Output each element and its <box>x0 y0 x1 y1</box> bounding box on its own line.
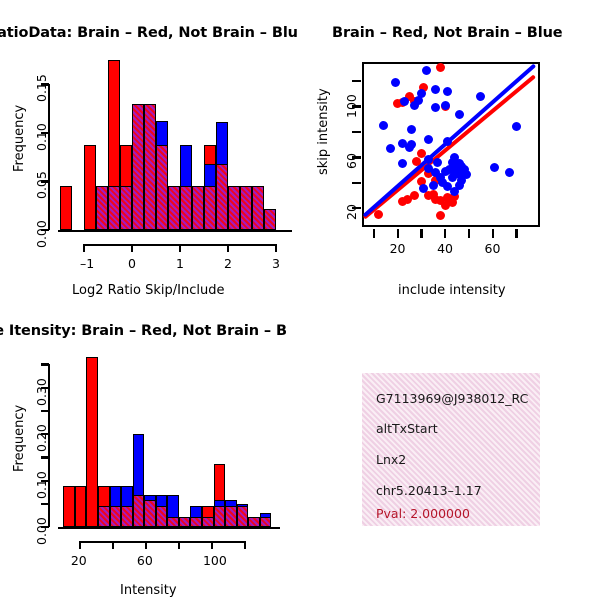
scatter-point-blue <box>476 92 485 101</box>
scatter-point-red <box>374 210 383 219</box>
ratio-y-tick-label: 0.05 <box>34 172 49 200</box>
scatter-point-blue <box>429 181 438 190</box>
hist-bar-overlap <box>132 104 144 230</box>
scatter-point-red <box>398 197 407 206</box>
ratio-histogram-title: RatioData: Brain – Red, Not Brain – Blu <box>0 25 298 41</box>
scatter-point-blue <box>398 159 407 168</box>
hist-bar-overlap <box>216 164 228 230</box>
scatter-point-blue <box>422 66 431 75</box>
hist-bar-overlap <box>252 186 264 230</box>
gene-intensity-ylabel: Frequency <box>12 405 27 472</box>
gene-y-tick <box>41 503 49 505</box>
scatter-point-blue <box>448 173 457 182</box>
gene-bar-overlap <box>144 500 156 527</box>
gene-x-tick <box>145 541 147 549</box>
info-pval: Pval: 2.000000 <box>376 506 470 521</box>
scatter-x-tick-label: 60 <box>485 241 501 256</box>
intensity-scatter-ylabel: skip intensity <box>316 88 331 175</box>
hist-bar-overlap <box>240 186 252 230</box>
scatter-x-tick <box>420 229 422 238</box>
hist-bar-overlap <box>96 186 108 230</box>
intensity-scatter-xlabel: include intensity <box>398 283 506 298</box>
gene-bar-overlap <box>260 517 272 527</box>
scatter-y-tick-label: 20 <box>344 204 359 220</box>
gene-y-tick-label: 0.10 <box>34 471 49 499</box>
info-locus: chr5.20413–1.17 <box>376 483 482 498</box>
gene-bar-overlap <box>110 506 122 527</box>
scatter-x-tick <box>492 229 494 238</box>
scatter-point-blue <box>391 78 400 87</box>
info-probe-id: G7113969@J938012_RC <box>376 391 528 406</box>
gene-bar-overlap <box>214 506 226 527</box>
ratio-histogram-xlabel: Log2 Ratio Skip/Include <box>72 283 224 298</box>
scatter-point-blue <box>512 122 521 131</box>
ratio-y-tick-label: 0.10 <box>34 123 49 151</box>
gene-bar-red <box>86 357 98 527</box>
gene-x-spine <box>80 541 245 543</box>
scatter-x-tick-label: 20 <box>390 241 406 256</box>
gene-intensity-baseline <box>58 527 280 529</box>
gene-x-tick <box>79 541 81 549</box>
intensity-scatter-title: Brain – Red, Not Brain – Blue <box>332 25 563 41</box>
ratio-x-tick <box>275 244 277 252</box>
scatter-point-blue <box>424 135 433 144</box>
ratio-x-tick-label: 1 <box>176 256 184 271</box>
gene-y-tick-label: 0.30 <box>34 378 49 406</box>
hist-bar-overlap <box>168 186 180 230</box>
gene-bar-red <box>63 486 75 527</box>
gene-y-tick <box>41 410 49 412</box>
gene-x-tick <box>211 541 213 549</box>
scatter-y-tick-label: 60 <box>344 153 359 169</box>
scatter-point-blue <box>386 144 395 153</box>
scatter-y-tick <box>352 131 361 133</box>
gene-intensity-title: ne Itensity: Brain – Red, Not Brain – B <box>0 323 287 339</box>
gene-x-tick-label: 20 <box>71 553 87 568</box>
scatter-point-blue <box>505 168 514 177</box>
gene-y-tick <box>41 456 49 458</box>
event-info-panel: G7113969@J938012_RC altTxStart Lnx2 chr5… <box>362 373 540 526</box>
gene-bar-overlap <box>248 517 260 527</box>
gene-y-tick <box>41 363 49 365</box>
gene-bar-overlap <box>225 506 237 527</box>
gene-bar-overlap <box>121 506 133 527</box>
scatter-point-blue <box>450 187 459 196</box>
scatter-y-tick <box>352 80 361 82</box>
scatter-x-tick-label: 40 <box>437 241 453 256</box>
info-event-type: altTxStart <box>376 421 438 436</box>
gene-x-tick-label: 100 <box>203 553 227 568</box>
ratio-histogram-ylabel: Frequency <box>12 105 27 172</box>
gene-bar-overlap <box>133 495 145 527</box>
hist-bar-overlap <box>156 145 168 230</box>
hist-bar-overlap <box>192 186 204 230</box>
ratio-x-tick-label: 2 <box>224 256 232 271</box>
ratio-y-spine <box>48 84 50 230</box>
ratio-x-tick <box>227 244 229 252</box>
gene-intensity-xlabel: Intensity <box>120 583 177 598</box>
gene-bar-overlap <box>167 517 179 527</box>
ratio-histogram-baseline <box>58 230 292 232</box>
ratio-x-tick-label: 0 <box>128 256 136 271</box>
scatter-y-tick-label: 100 <box>344 95 359 119</box>
gene-bar-overlap <box>98 506 110 527</box>
scatter-x-tick <box>397 229 399 238</box>
ratio-x-tick-label: –1 <box>80 256 94 271</box>
gene-x-tick-label: 60 <box>137 553 153 568</box>
ratio-x-tick <box>83 244 85 252</box>
gene-bar-overlap <box>190 517 202 527</box>
scatter-point-blue <box>424 164 433 173</box>
gene-y-tick-label: 0.20 <box>34 424 49 452</box>
scatter-point-blue <box>400 97 409 106</box>
gene-bar-overlap <box>179 517 191 527</box>
gene-y-tick-label: 0.00 <box>34 517 49 545</box>
scatter-point-red <box>412 157 421 166</box>
hist-bar-overlap <box>108 186 120 230</box>
hist-bar-overlap <box>228 186 240 230</box>
gene-x-tick <box>244 541 246 549</box>
scatter-x-tick <box>515 229 517 238</box>
ratio-y-tick-label: 0.15 <box>34 74 49 102</box>
scatter-point-blue <box>443 87 452 96</box>
hist-bar-overlap <box>144 104 156 230</box>
hist-bar-overlap <box>120 186 132 230</box>
scatter-point-blue <box>455 110 464 119</box>
ratio-x-tick <box>179 244 181 252</box>
gene-bar-red <box>75 486 87 527</box>
info-gene-name: Lnx2 <box>376 452 406 467</box>
scatter-point-blue <box>441 101 450 110</box>
hist-bar-overlap <box>180 186 192 230</box>
hist-bar-red <box>60 186 72 230</box>
gene-intensity-panel: ne Itensity: Brain – Red, Not Brain – B … <box>0 300 300 600</box>
ratio-x-tick <box>131 244 133 252</box>
intensity-scatter-panel: Brain – Red, Not Brain – Blue skip inten… <box>300 0 600 300</box>
gene-x-tick <box>178 541 180 549</box>
hist-bar-overlap <box>264 209 276 230</box>
scatter-point-blue <box>410 101 419 110</box>
scatter-point-red <box>436 211 445 220</box>
scatter-y-tick <box>352 182 361 184</box>
scatter-x-tick <box>468 229 470 238</box>
ratio-histogram-panel: RatioData: Brain – Red, Not Brain – Blu … <box>0 0 300 300</box>
gene-bar-overlap <box>156 506 168 527</box>
scatter-point-blue <box>379 121 388 130</box>
scatter-point-blue <box>405 143 414 152</box>
hist-bar-red <box>84 145 96 230</box>
scatter-point-red <box>436 63 445 72</box>
ratio-y-tick-label: 0.00 <box>34 220 49 248</box>
scatter-x-tick <box>444 229 446 238</box>
gene-bar-overlap <box>202 517 214 527</box>
gene-x-tick <box>112 541 114 549</box>
gene-bar-overlap <box>237 506 249 527</box>
scatter-point-red <box>429 190 438 199</box>
scatter-x-tick <box>373 229 375 238</box>
ratio-x-tick-label: 3 <box>272 256 280 271</box>
hist-bar-overlap <box>204 186 216 230</box>
